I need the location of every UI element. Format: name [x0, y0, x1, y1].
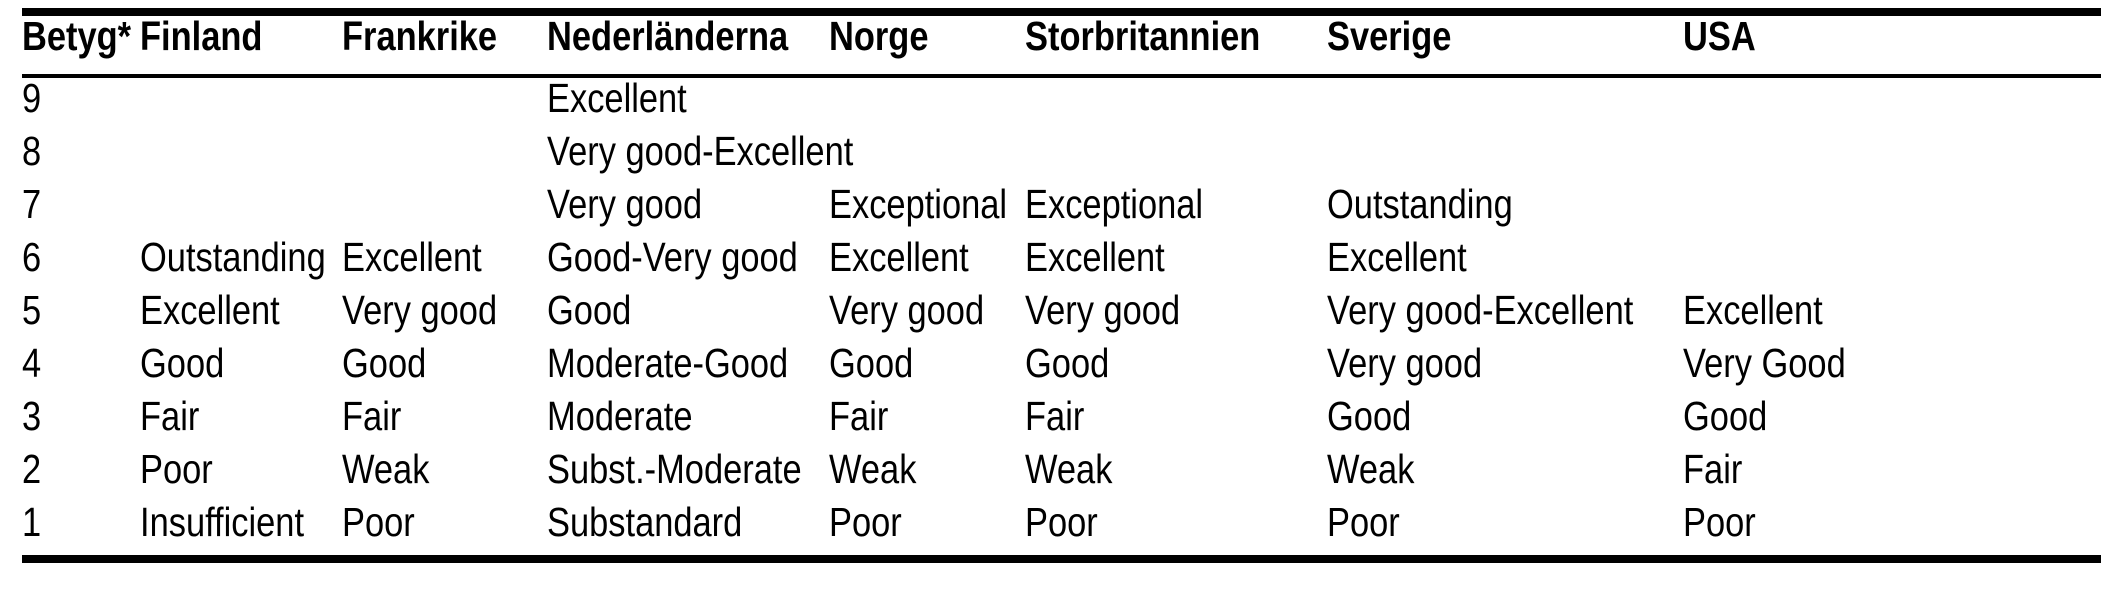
- cell-nederlanderna: Very good-Excellent: [547, 131, 784, 184]
- cell-sverige: Outstanding: [1327, 184, 1626, 237]
- cell-frankrike: Poor: [342, 502, 514, 555]
- cell-norge: Fair: [829, 396, 994, 449]
- cell-usa: [1683, 184, 2034, 237]
- cell-norge: [829, 78, 994, 131]
- cell-finland: Good: [140, 343, 310, 396]
- cell-nederlanderna: Substandard: [547, 502, 784, 555]
- cell-finland: Outstanding: [140, 237, 310, 290]
- cell-frankrike: Fair: [342, 396, 514, 449]
- cell-nederlanderna: Good: [547, 290, 784, 343]
- table-bottom-double-rule: [22, 555, 2101, 563]
- cell-usa: Good: [1683, 396, 2034, 449]
- cell-betyg: 1: [22, 502, 121, 555]
- cell-usa: Fair: [1683, 449, 2034, 502]
- cell-nederlanderna: Excellent: [547, 78, 784, 131]
- cell-sverige: [1327, 131, 1626, 184]
- column-header-finland: Finland: [140, 16, 310, 74]
- cell-nederlanderna: Good-Very good: [547, 237, 784, 290]
- cell-norge: Excellent: [829, 237, 994, 290]
- cell-finland: Poor: [140, 449, 310, 502]
- cell-frankrike: Weak: [342, 449, 514, 502]
- cell-storbritannien: Exceptional: [1025, 184, 1279, 237]
- cell-storbritannien: Good: [1025, 343, 1279, 396]
- cell-sverige: Good: [1327, 396, 1626, 449]
- cell-norge: [829, 131, 994, 184]
- cell-betyg: 3: [22, 396, 121, 449]
- table-row: 2 Poor Weak Subst.-Moderate Weak Weak We…: [22, 449, 2101, 502]
- cell-sverige: [1327, 78, 1626, 131]
- grades-table: Betyg* Finland Frankrike Nederländerna N…: [22, 16, 2101, 74]
- cell-sverige: Very good-Excellent: [1327, 290, 1626, 343]
- cell-norge: Exceptional: [829, 184, 994, 237]
- cell-finland: [140, 131, 310, 184]
- cell-nederlanderna: Moderate-Good: [547, 343, 784, 396]
- cell-usa: Very Good: [1683, 343, 2034, 396]
- cell-betyg: 4: [22, 343, 121, 396]
- table-row: 1 Insufficient Poor Substandard Poor Poo…: [22, 502, 2101, 555]
- cell-betyg: 8: [22, 131, 121, 184]
- cell-storbritannien: Very good: [1025, 290, 1279, 343]
- cell-finland: Fair: [140, 396, 310, 449]
- cell-finland: Insufficient: [140, 502, 310, 555]
- cell-norge: Good: [829, 343, 994, 396]
- table-header: Betyg* Finland Frankrike Nederländerna N…: [22, 16, 2101, 74]
- cell-sverige: Very good: [1327, 343, 1626, 396]
- column-header-frankrike: Frankrike: [342, 16, 514, 74]
- column-header-usa: USA: [1683, 16, 2034, 74]
- table-row: 5 Excellent Very good Good Very good Ver…: [22, 290, 2101, 343]
- grades-table-container: Betyg* Finland Frankrike Nederländerna N…: [22, 8, 2101, 563]
- cell-storbritannien: Fair: [1025, 396, 1279, 449]
- cell-betyg: 6: [22, 237, 121, 290]
- column-header-norge: Norge: [829, 16, 994, 74]
- cell-finland: [140, 78, 310, 131]
- cell-storbritannien: Weak: [1025, 449, 1279, 502]
- cell-norge: Poor: [829, 502, 994, 555]
- cell-storbritannien: Excellent: [1025, 237, 1279, 290]
- column-header-storbritannien: Storbritannien: [1025, 16, 1279, 74]
- cell-betyg: 2: [22, 449, 121, 502]
- cell-frankrike: Excellent: [342, 237, 514, 290]
- table-row: 9 Excellent: [22, 78, 2101, 131]
- cell-nederlanderna: Subst.-Moderate: [547, 449, 784, 502]
- cell-nederlanderna: Very good: [547, 184, 784, 237]
- cell-norge: Very good: [829, 290, 994, 343]
- column-header-sverige: Sverige: [1327, 16, 1626, 74]
- cell-frankrike: Very good: [342, 290, 514, 343]
- column-header-betyg: Betyg*: [22, 16, 121, 74]
- cell-usa: [1683, 237, 2034, 290]
- cell-usa: [1683, 131, 2034, 184]
- cell-betyg: 5: [22, 290, 121, 343]
- table-row: 4 Good Good Moderate-Good Good Good Very…: [22, 343, 2101, 396]
- cell-frankrike: [342, 78, 514, 131]
- cell-betyg: 9: [22, 78, 121, 131]
- cell-frankrike: [342, 184, 514, 237]
- cell-usa: Poor: [1683, 502, 2034, 555]
- cell-sverige: Weak: [1327, 449, 1626, 502]
- column-header-nederlanderna: Nederländerna: [547, 16, 784, 74]
- cell-frankrike: Good: [342, 343, 514, 396]
- cell-sverige: Excellent: [1327, 237, 1626, 290]
- cell-finland: Excellent: [140, 290, 310, 343]
- cell-storbritannien: [1025, 78, 1279, 131]
- table-header-row: Betyg* Finland Frankrike Nederländerna N…: [22, 16, 2101, 74]
- cell-betyg: 7: [22, 184, 121, 237]
- cell-norge: Weak: [829, 449, 994, 502]
- table-row: 3 Fair Fair Moderate Fair Fair Good Good: [22, 396, 2101, 449]
- cell-usa: Excellent: [1683, 290, 2034, 343]
- grades-table-body: 9 Excellent 8 Very good-Excellent: [22, 78, 2101, 555]
- table-body: 9 Excellent 8 Very good-Excellent: [22, 78, 2101, 555]
- table-row: 8 Very good-Excellent: [22, 131, 2101, 184]
- cell-storbritannien: [1025, 131, 1279, 184]
- table-row: 6 Outstanding Excellent Good-Very good E…: [22, 237, 2101, 290]
- cell-frankrike: [342, 131, 514, 184]
- cell-finland: [140, 184, 310, 237]
- table-row: 7 Very good Exceptional Exceptional Outs…: [22, 184, 2101, 237]
- cell-sverige: Poor: [1327, 502, 1626, 555]
- cell-storbritannien: Poor: [1025, 502, 1279, 555]
- cell-usa: [1683, 78, 2034, 131]
- cell-nederlanderna: Moderate: [547, 396, 784, 449]
